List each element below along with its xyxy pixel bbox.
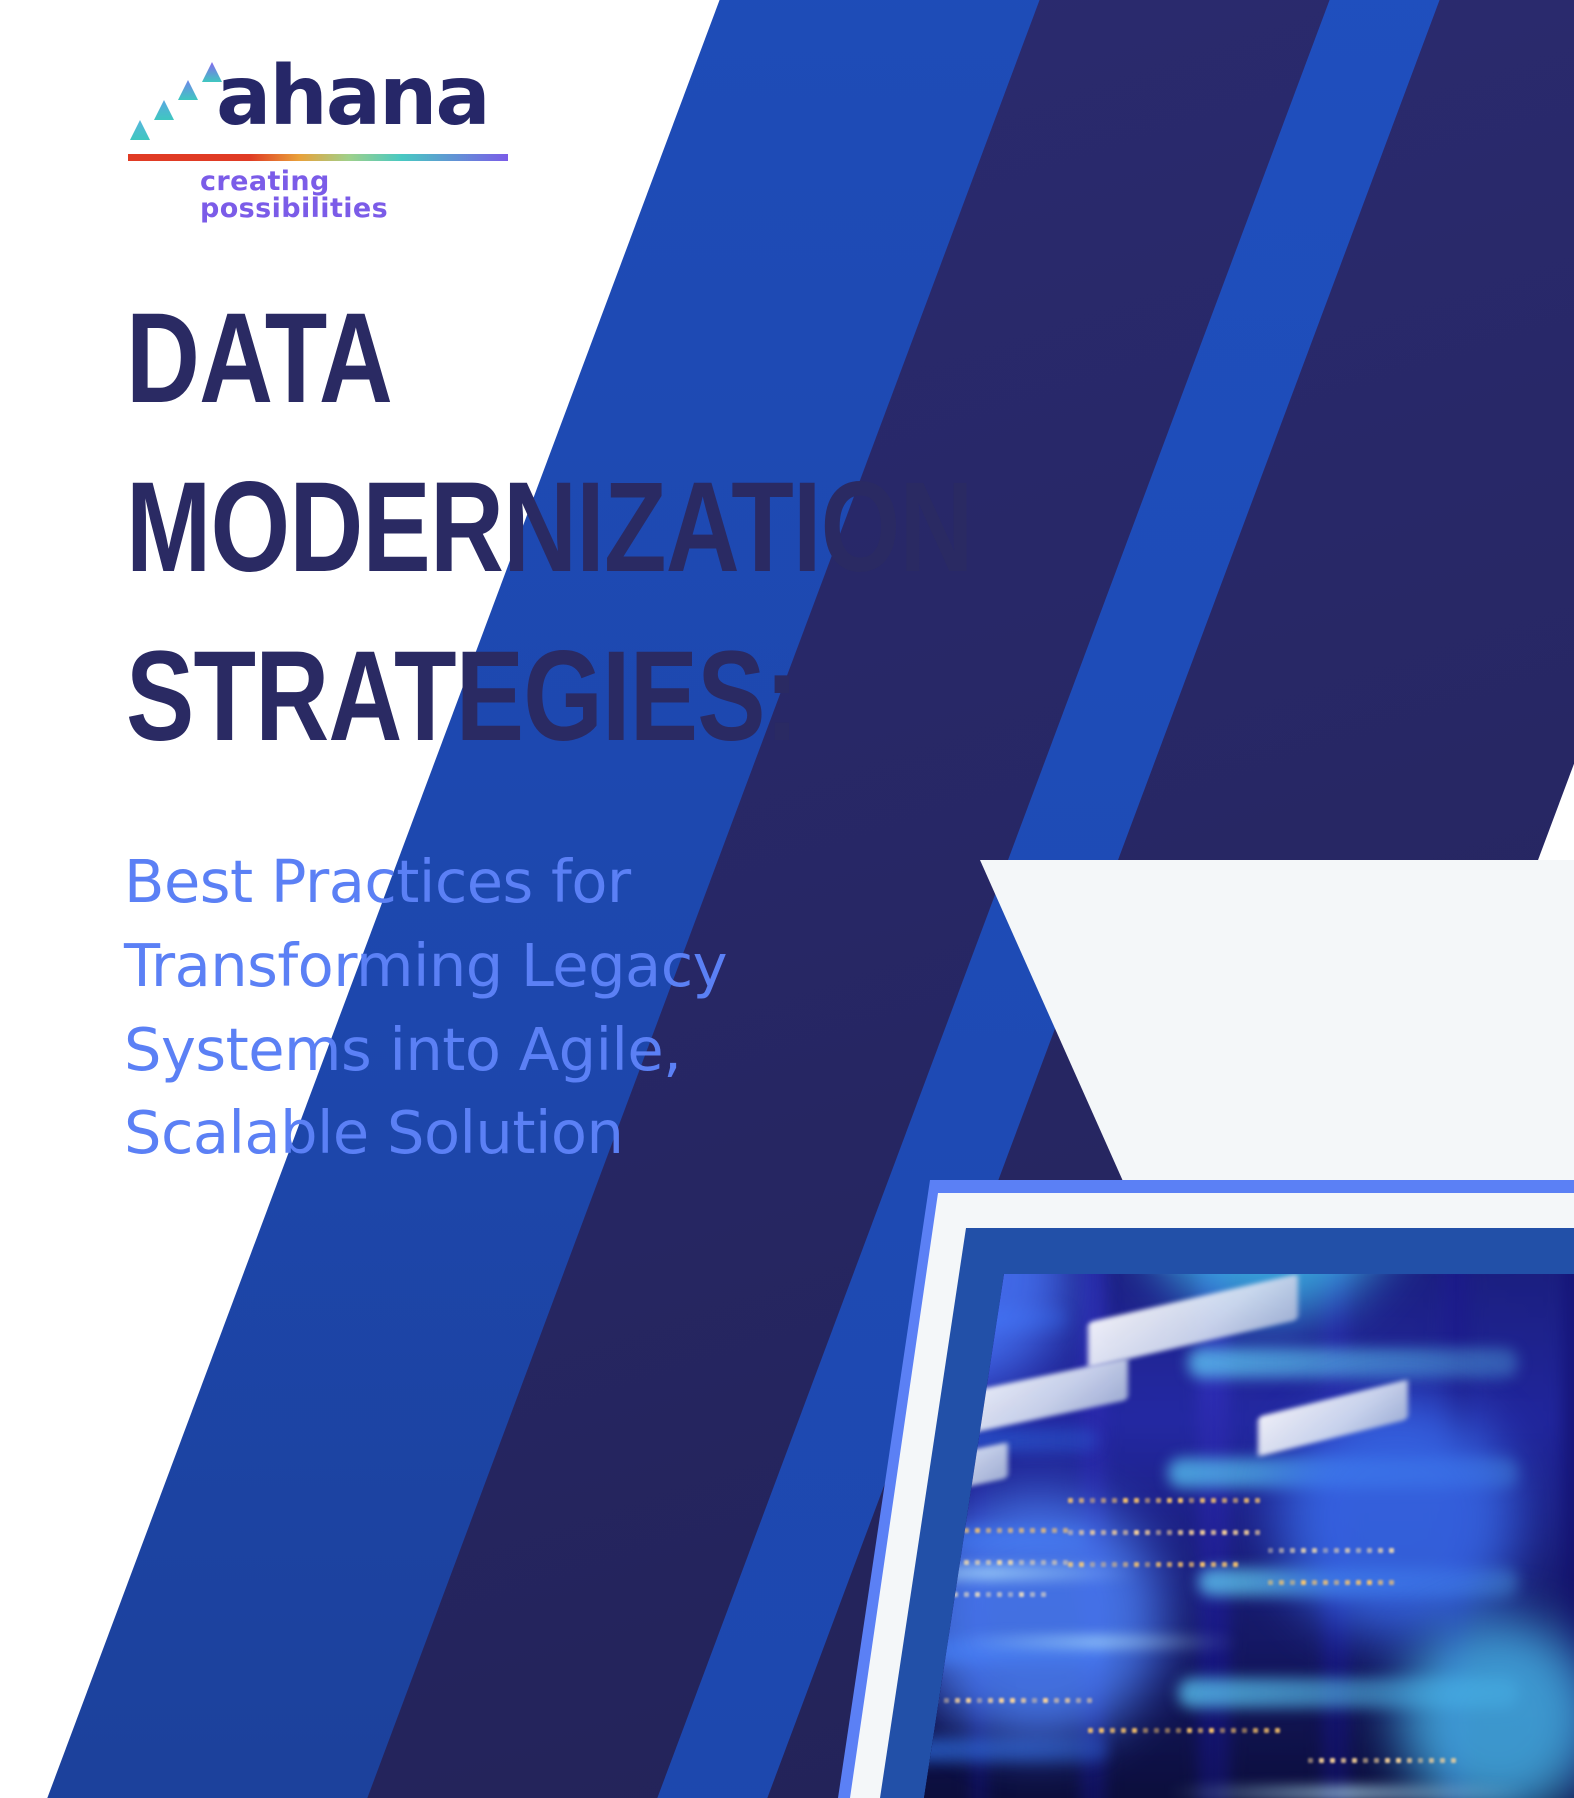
ebook-cover-page: ahana creating possibilities DATA MODERN… — [0, 0, 1574, 1798]
title-line-1: DATA — [126, 275, 790, 444]
subtitle-line-2: Transforming Legacy — [124, 924, 914, 1008]
title-line-2: MODERNIZATION — [126, 444, 790, 613]
logo-tagline: creating possibilities — [200, 168, 508, 222]
page-title: DATA MODERNIZATION STRATEGIES: — [126, 275, 956, 782]
subtitle-line-1: Best Practices for — [124, 840, 914, 924]
title-line-3: STRATEGIES: — [126, 613, 790, 782]
logo-wordmark: ahana — [216, 56, 489, 138]
page-subtitle: Best Practices for Transforming Legacy S… — [124, 840, 914, 1175]
subtitle-line-3: Systems into Agile, — [124, 1008, 914, 1092]
subtitle-line-4: Scalable Solution — [124, 1091, 914, 1175]
cover-photo-frame — [838, 1098, 1574, 1798]
ahana-logo[interactable]: ahana creating possibilities — [128, 58, 508, 206]
